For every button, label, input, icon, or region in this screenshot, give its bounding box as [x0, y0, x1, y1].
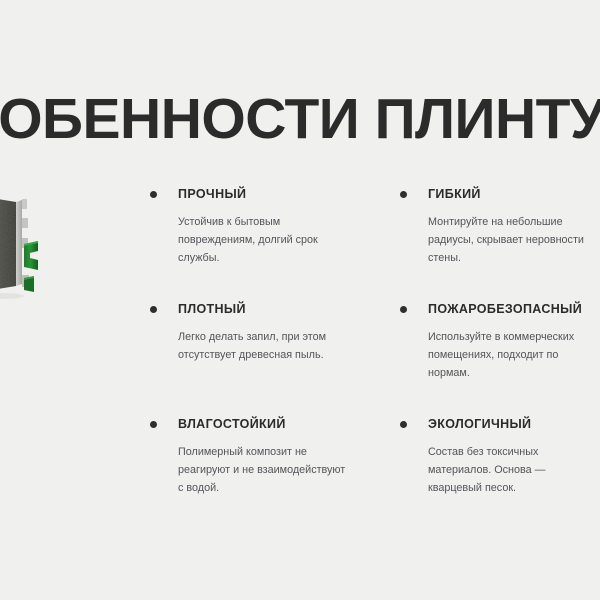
plinth-illustration: [0, 180, 100, 310]
feature-header: ПОЖАРОБЕЗОПАСНЫЙ: [400, 301, 600, 317]
feature-description: Устойчив к бытовым повреждениям, долгий …: [178, 213, 350, 267]
feature-title: ЭКОЛОГИЧНЫЙ: [428, 416, 531, 432]
feature-description: Монтируйте на небольшие радиусы, скрывае…: [428, 213, 600, 267]
feature-title: ПОЖАРОБЕЗОПАСНЫЙ: [428, 301, 582, 317]
bullet-icon: [150, 421, 157, 428]
feature-header: ПЛОТНЫЙ: [150, 301, 350, 317]
feature-description: Полимерный композит не реагируют и не вз…: [178, 443, 350, 497]
slide-root: ОСОБЕННОСТИ ПЛИНТУСА: [0, 0, 600, 600]
feature-title: ПРОЧНЫЙ: [178, 186, 246, 202]
bullet-icon: [400, 306, 407, 313]
feature-item-plotnyy: ПЛОТНЫЙ Легко делать запил, при этом отс…: [150, 301, 350, 364]
feature-header: ЭКОЛОГИЧНЫЙ: [400, 416, 600, 432]
feature-title: ГИБКИЙ: [428, 186, 481, 202]
feature-header: ГИБКИЙ: [400, 186, 600, 202]
feature-description: Состав без токсичных материалов. Основа …: [428, 443, 600, 497]
feature-description: Используйте в коммерческих помещениях, п…: [428, 328, 600, 382]
feature-item-ekologichnyy: ЭКОЛОГИЧНЫЙ Состав без токсичных материа…: [400, 416, 600, 497]
page-title: ОСОБЕННОСТИ ПЛИНТУСА: [0, 86, 600, 152]
plinth-face: [0, 196, 16, 292]
feature-header: ПРОЧНЫЙ: [150, 186, 350, 202]
bullet-icon: [150, 306, 157, 313]
feature-item-gibkiy: ГИБКИЙ Монтируйте на небольшие радиусы, …: [400, 186, 600, 267]
product-image: [0, 180, 100, 310]
bullet-icon: [400, 191, 407, 198]
page-title-container: ОСОБЕННОСТИ ПЛИНТУСА: [0, 86, 600, 152]
bullet-icon: [150, 191, 157, 198]
feature-item-vlagostoykiy: ВЛАГОСТОЙКИЙ Полимерный композит не реаг…: [150, 416, 350, 497]
feature-title: ВЛАГОСТОЙКИЙ: [178, 416, 286, 432]
mounting-clip-green: [24, 241, 38, 292]
feature-item-prochnyy: ПРОЧНЫЙ Устойчив к бытовым повреждениям,…: [150, 186, 350, 267]
bullet-icon: [400, 421, 407, 428]
feature-description: Легко делать запил, при этом отсутствует…: [178, 328, 350, 364]
feature-title: ПЛОТНЫЙ: [178, 301, 246, 317]
plinth-shadow: [0, 293, 24, 299]
feature-header: ВЛАГОСТОЙКИЙ: [150, 416, 350, 432]
plinth-back-rail: [16, 199, 29, 287]
feature-item-pozharobezopasnyy: ПОЖАРОБЕЗОПАСНЫЙ Используйте в коммерчес…: [400, 301, 600, 382]
